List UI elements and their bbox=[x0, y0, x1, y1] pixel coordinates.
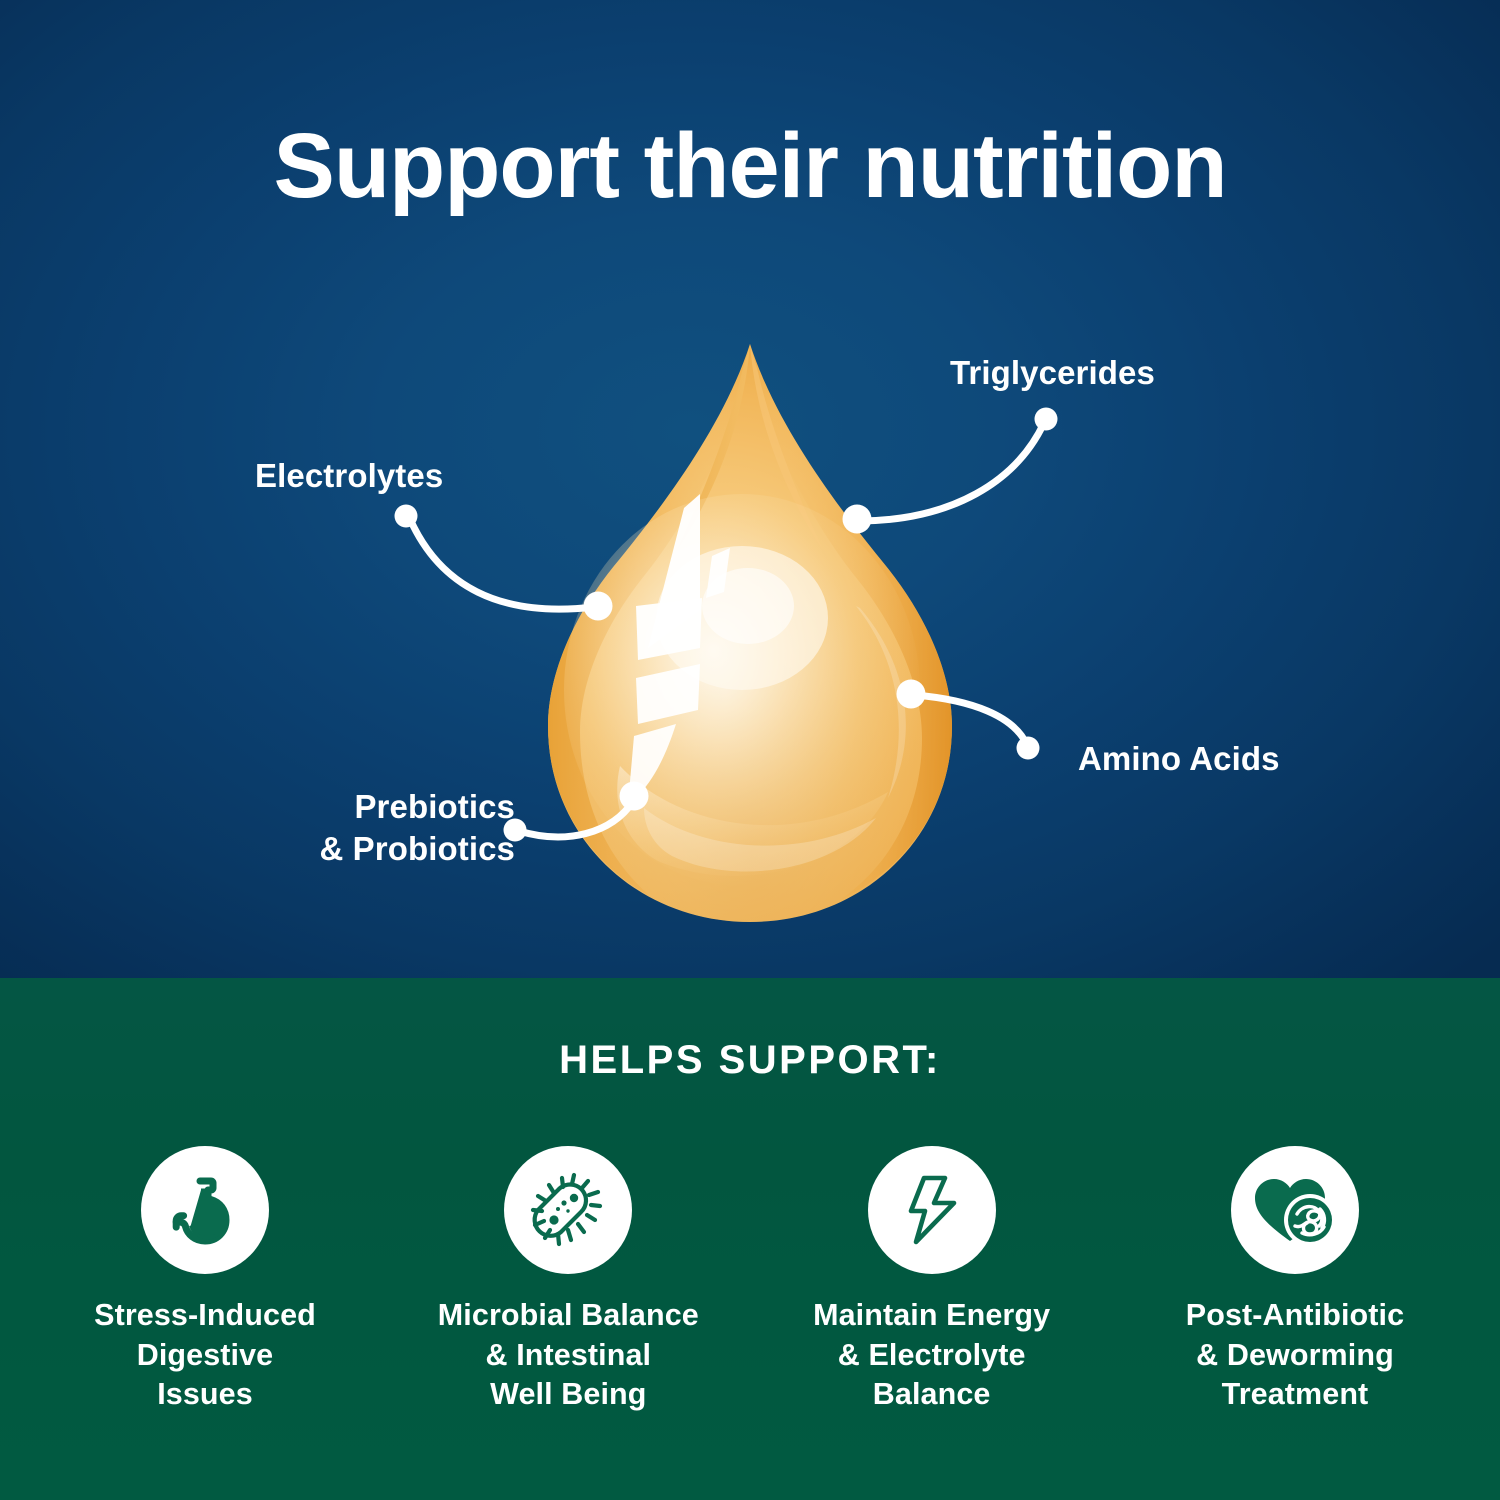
callout-label-electrolytes: Electrolytes bbox=[255, 455, 443, 497]
connector-electrolytes bbox=[410, 519, 594, 609]
callout-label-prebiotics: Prebiotics & Probiotics bbox=[315, 786, 515, 870]
connector-triglycerides bbox=[861, 423, 1044, 521]
benefits-row: Stress-Induced Digestive Issues bbox=[40, 1146, 1460, 1415]
droplet-diagram bbox=[0, 0, 1500, 978]
benefit-icon-circle bbox=[1231, 1146, 1359, 1274]
dot-electrolytes-drop bbox=[584, 592, 613, 621]
dot-amino-acids-drop bbox=[897, 680, 926, 709]
benefit-label: Maintain Energy & Electrolyte Balance bbox=[813, 1296, 1050, 1415]
benefits-heading: HELPS SUPPORT: bbox=[0, 1038, 1500, 1083]
benefit-item-energy: Maintain Energy & Electrolyte Balance bbox=[767, 1146, 1097, 1415]
oil-droplet bbox=[548, 344, 952, 922]
dot-prebiotics-drop bbox=[620, 782, 649, 811]
bacteria-icon bbox=[528, 1170, 608, 1250]
stomach-icon bbox=[167, 1172, 243, 1248]
lightning-bolt-icon bbox=[893, 1171, 971, 1249]
callout-label-amino-acids: Amino Acids bbox=[1078, 738, 1280, 780]
dot-amino-acids-label bbox=[1017, 737, 1040, 760]
benefit-icon-circle bbox=[141, 1146, 269, 1274]
heart-worms-icon bbox=[1252, 1170, 1338, 1250]
benefit-item-post-antibiotic: Post-Antibiotic & Deworming Treatment bbox=[1130, 1146, 1460, 1415]
benefit-item-microbial: Microbial Balance & Intestinal Well Bein… bbox=[403, 1146, 733, 1415]
dot-triglycerides-drop bbox=[843, 505, 872, 534]
hero-panel: Support their nutrition bbox=[0, 0, 1500, 978]
benefit-label: Stress-Induced Digestive Issues bbox=[94, 1296, 316, 1415]
benefits-panel: HELPS SUPPORT: Stress-Induced Digestive … bbox=[0, 978, 1500, 1500]
benefit-label: Post-Antibiotic & Deworming Treatment bbox=[1186, 1296, 1404, 1415]
dot-electrolytes-label bbox=[395, 505, 418, 528]
benefit-icon-circle bbox=[504, 1146, 632, 1274]
benefit-label: Microbial Balance & Intestinal Well Bein… bbox=[438, 1296, 699, 1415]
dot-triglycerides-label bbox=[1035, 408, 1058, 431]
callout-label-triglycerides: Triglycerides bbox=[950, 352, 1155, 394]
benefit-item-digestive: Stress-Induced Digestive Issues bbox=[40, 1146, 370, 1415]
benefit-icon-circle bbox=[868, 1146, 996, 1274]
infographic-page: Support their nutrition bbox=[0, 0, 1500, 1500]
